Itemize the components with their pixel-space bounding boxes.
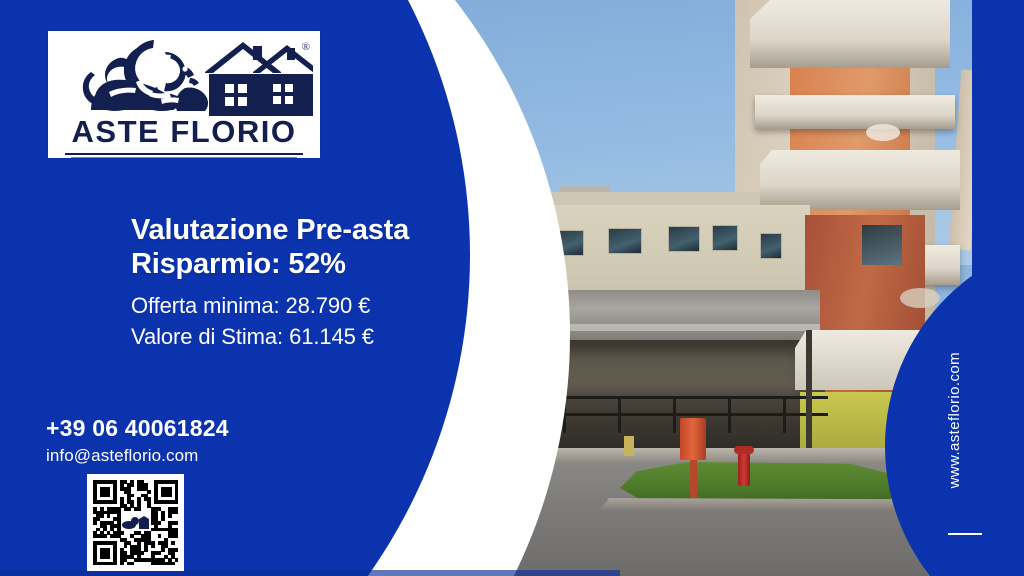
logo-wordmark: ASTE FLORIO <box>51 114 317 150</box>
headline-savings: Risparmio: 52% <box>131 248 471 282</box>
headline-block: Valutazione Pre-asta Risparmio: 52% Offe… <box>131 214 471 352</box>
url-underline <box>948 533 982 535</box>
brick-oval-sign <box>900 288 940 308</box>
grass-patch <box>620 462 900 504</box>
estimated-value-line: Valore di Stima: 61.145 € <box>131 321 471 352</box>
headline-line-1: Valutazione Pre-asta <box>131 214 471 248</box>
window <box>712 225 738 251</box>
email-address[interactable]: info@asteflorio.com <box>46 446 229 466</box>
phone-number[interactable]: +39 06 40061824 <box>46 415 229 442</box>
fire-hydrant <box>738 450 750 486</box>
kerb-upper <box>540 448 890 462</box>
postbox-leg <box>690 458 697 498</box>
brick-window <box>862 225 902 265</box>
qr-center-logo-icon <box>121 515 151 531</box>
kerb-lower <box>600 498 900 510</box>
contact-block: +39 06 40061824 info@asteflorio.com <box>46 415 229 466</box>
minimum-offer-line: Offerta minima: 28.790 € <box>131 290 471 321</box>
flyer-canvas: ® <box>0 0 1024 576</box>
qr-code[interactable] <box>87 474 184 571</box>
window <box>608 228 642 254</box>
website-url-vertical[interactable]: www.asteflorio.com <box>946 352 963 488</box>
window <box>760 233 782 259</box>
balcony-3 <box>760 150 960 210</box>
logo-underline <box>65 153 303 155</box>
brand-logo[interactable]: ® <box>48 31 320 158</box>
window <box>668 226 700 252</box>
orange-postbox <box>680 418 706 460</box>
blue-panel-right-bar <box>972 0 1024 576</box>
fire-hydrant-cap <box>734 446 754 454</box>
balcony-2 <box>755 95 955 129</box>
lion-and-houses-icon <box>57 36 313 118</box>
yellow-bollard <box>624 436 634 456</box>
support-pole-right <box>806 330 812 460</box>
logo-underline-thin <box>71 157 297 158</box>
qr-code-matrix <box>93 480 178 565</box>
balcony-1 <box>750 0 950 68</box>
wall-vent <box>866 124 900 141</box>
